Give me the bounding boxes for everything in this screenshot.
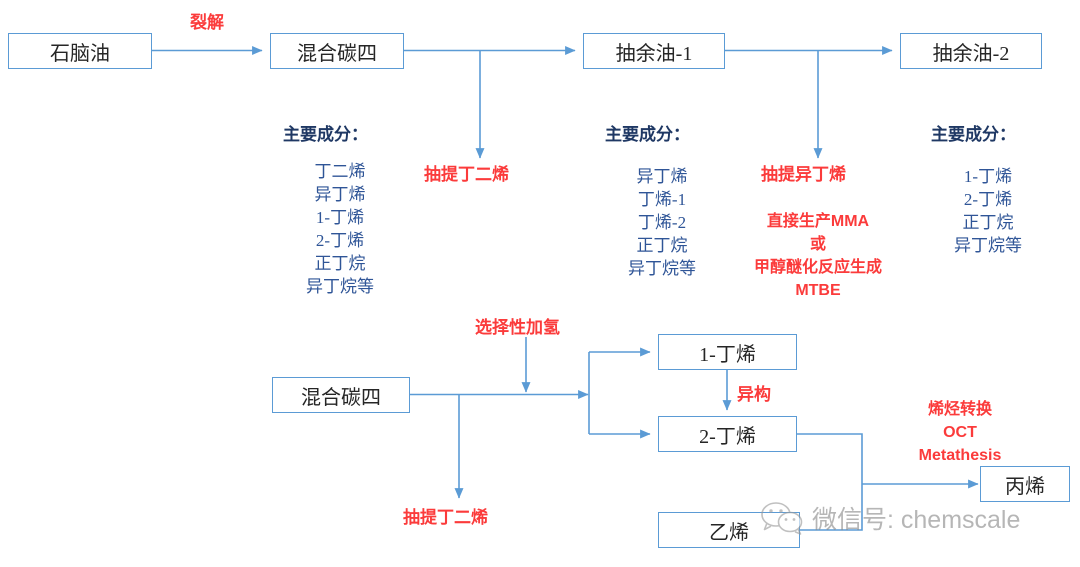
box-raffinate-1[interactable]: 抽余油-1 xyxy=(583,33,725,69)
box-butene-2-label: 2-丁烯 xyxy=(699,420,756,449)
component-item: 丁二烯 xyxy=(270,160,410,183)
box-propylene[interactable]: 丙烯 xyxy=(980,466,1070,502)
oct-line: Metathesis xyxy=(880,444,1040,467)
label-cracking: 裂解 xyxy=(190,8,224,33)
watermark: 微信号: chemscale xyxy=(760,500,1020,536)
component-item: 异丁烷等 xyxy=(592,257,732,280)
component-item: 正丁烷 xyxy=(918,211,1058,234)
label-isomerization: 异构 xyxy=(737,380,771,405)
label-selective-hydrogenation: 选择性加氢 xyxy=(475,313,560,338)
components-title-2: 主要成分： xyxy=(605,120,690,145)
component-item: 正丁烷 xyxy=(270,252,410,275)
component-item: 2-丁烯 xyxy=(918,188,1058,211)
component-item: 异丁烷等 xyxy=(270,275,410,298)
mma-line: 或 xyxy=(728,233,908,256)
box-butene-1[interactable]: 1-丁烯 xyxy=(658,334,797,370)
components-list-1: 丁二烯 异丁烯 1-丁烯 2-丁烯 正丁烷 异丁烷等 xyxy=(270,160,410,298)
component-item: 1-丁烯 xyxy=(918,165,1058,188)
mma-line: MTBE xyxy=(728,279,908,302)
box-mixed-c4-bottom-label: 混合碳四 xyxy=(301,381,381,410)
component-item: 丁烯-1 xyxy=(592,188,732,211)
flow-diagram-canvas: 石脑油 混合碳四 抽余油-1 抽余油-2 裂解 抽提丁二烯 抽提异丁烯 主要成分… xyxy=(0,0,1080,567)
connector-lines xyxy=(0,0,1080,567)
oct-line: 烯烃转换 xyxy=(880,398,1040,421)
wechat-icon xyxy=(760,501,806,535)
label-extract-butadiene-top: 抽提丁二烯 xyxy=(424,160,509,185)
label-extract-butadiene-bottom: 抽提丁二烯 xyxy=(403,503,488,528)
box-ethylene-label: 乙烯 xyxy=(709,516,749,545)
components-list-3: 1-丁烯 2-丁烯 正丁烷 异丁烷等 xyxy=(918,165,1058,257)
box-butene-1-label: 1-丁烯 xyxy=(699,338,756,367)
oct-metathesis-block: 烯烃转换 OCT Metathesis xyxy=(880,398,1040,467)
box-raffinate-2-label: 抽余油-2 xyxy=(933,37,1010,66)
box-mixed-c4-top[interactable]: 混合碳四 xyxy=(270,33,404,69)
component-item: 1-丁烯 xyxy=(270,206,410,229)
mma-mtbe-block: 直接生产MMA 或 甲醇醚化反应生成 MTBE xyxy=(728,210,908,302)
box-butene-2[interactable]: 2-丁烯 xyxy=(658,416,797,452)
box-mixed-c4-bottom[interactable]: 混合碳四 xyxy=(272,377,410,413)
oct-line: OCT xyxy=(880,421,1040,444)
component-item: 异丁烯 xyxy=(270,183,410,206)
box-naphtha-label: 石脑油 xyxy=(50,37,110,66)
mma-line: 直接生产MMA xyxy=(728,210,908,233)
component-item: 2-丁烯 xyxy=(270,229,410,252)
components-title-3: 主要成分： xyxy=(931,120,1016,145)
component-item: 异丁烯 xyxy=(592,165,732,188)
mma-line: 甲醇醚化反应生成 xyxy=(728,256,908,279)
components-title-1: 主要成分： xyxy=(283,120,368,145)
watermark-text: 微信号: chemscale xyxy=(812,500,1020,536)
label-extract-isobutene: 抽提异丁烯 xyxy=(761,160,846,185)
box-raffinate-1-label: 抽余油-1 xyxy=(616,37,693,66)
box-mixed-c4-top-label: 混合碳四 xyxy=(297,37,377,66)
box-naphtha[interactable]: 石脑油 xyxy=(8,33,152,69)
component-item: 异丁烷等 xyxy=(918,234,1058,257)
component-item: 正丁烷 xyxy=(592,234,732,257)
box-propylene-label: 丙烯 xyxy=(1005,470,1045,499)
components-list-2: 异丁烯 丁烯-1 丁烯-2 正丁烷 异丁烷等 xyxy=(592,165,732,280)
component-item: 丁烯-2 xyxy=(592,211,732,234)
box-raffinate-2[interactable]: 抽余油-2 xyxy=(900,33,1042,69)
